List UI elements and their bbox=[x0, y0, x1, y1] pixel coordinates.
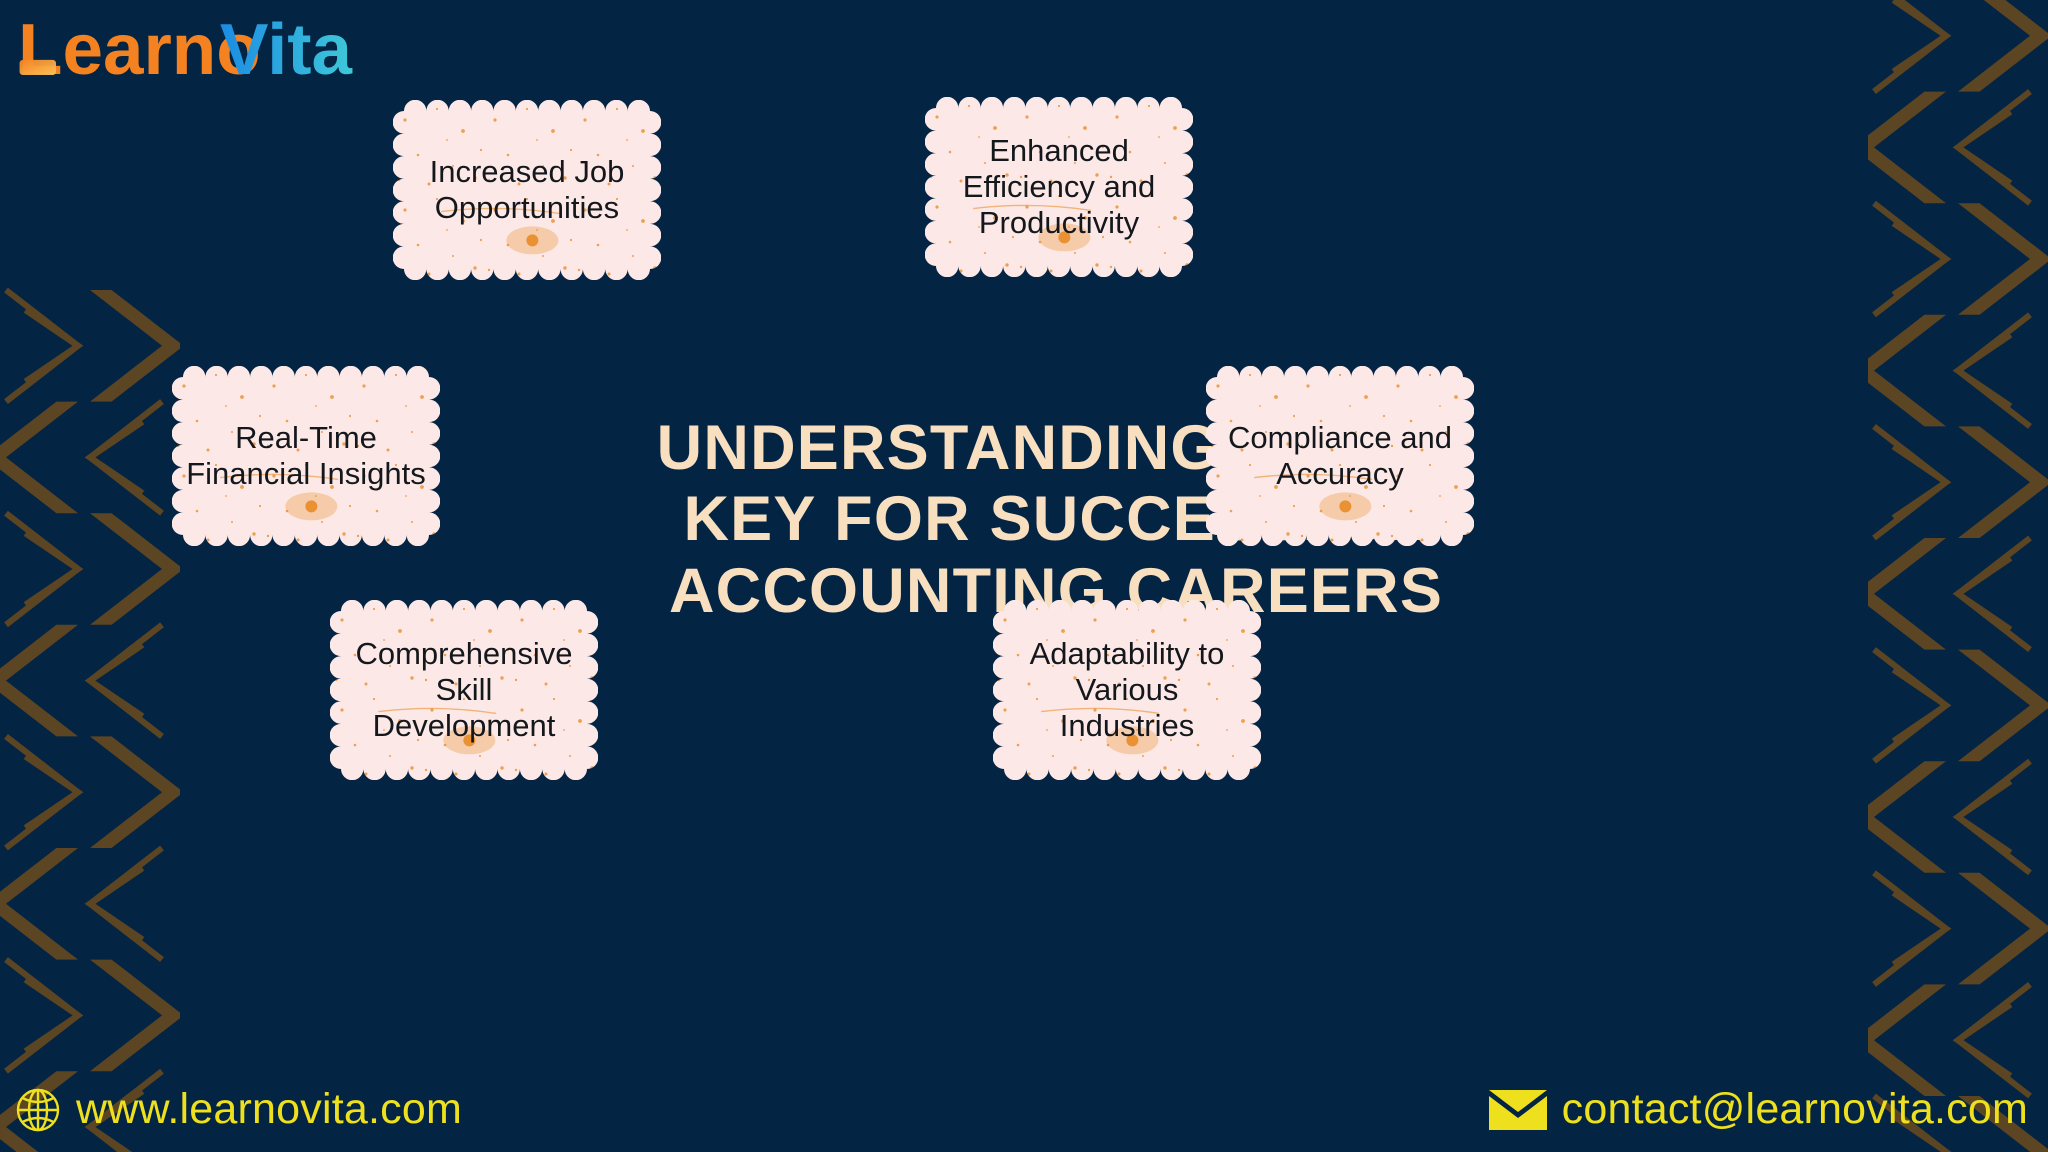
globe-icon bbox=[14, 1086, 62, 1134]
stamp-card-comprehensive-skill-development: Comprehensive Skill Development bbox=[330, 600, 598, 780]
stamp-card-label: Real-Time Financial Insights bbox=[172, 420, 440, 493]
envelope-icon bbox=[1488, 1087, 1548, 1133]
logo-text-vita: Vita bbox=[220, 14, 353, 90]
stamp-card-label: Adaptability to Various Industries bbox=[993, 636, 1261, 745]
footer-website[interactable]: www.learnovita.com bbox=[14, 1085, 462, 1134]
website-text: www.learnovita.com bbox=[76, 1085, 462, 1134]
stamp-card-real-time-financial-insights: Real-Time Financial Insights bbox=[172, 366, 440, 546]
logo-l-accent bbox=[20, 60, 56, 75]
stamp-card-label: Enhanced Efficiency and Productivity bbox=[949, 133, 1169, 242]
email-text: contact@learnovita.com bbox=[1562, 1085, 2028, 1134]
footer-email[interactable]: contact@learnovita.com bbox=[1488, 1085, 2028, 1134]
chevron-pattern-right bbox=[1868, 0, 2048, 1152]
stamp-card-label: Compliance and Accuracy bbox=[1214, 420, 1466, 493]
stamp-card-label: Increased Job Opportunities bbox=[416, 154, 639, 227]
infographic-canvas: Learno Vita UNDERSTANDING TALLY: KEY FOR… bbox=[0, 0, 2048, 1152]
stamp-card-adaptability-various-industries: Adaptability to Various Industries bbox=[993, 600, 1261, 780]
stamp-card-increased-job-opportunities: Increased Job Opportunities bbox=[393, 100, 661, 280]
chevron-pattern-left bbox=[0, 0, 180, 1152]
stamp-card-label: Comprehensive Skill Development bbox=[330, 636, 598, 745]
learnovita-logo[interactable]: Learno Vita bbox=[18, 14, 390, 90]
stamp-card-compliance-and-accuracy: Compliance and Accuracy bbox=[1206, 366, 1474, 546]
stamp-card-enhanced-efficiency-productivity: Enhanced Efficiency and Productivity bbox=[925, 97, 1193, 277]
